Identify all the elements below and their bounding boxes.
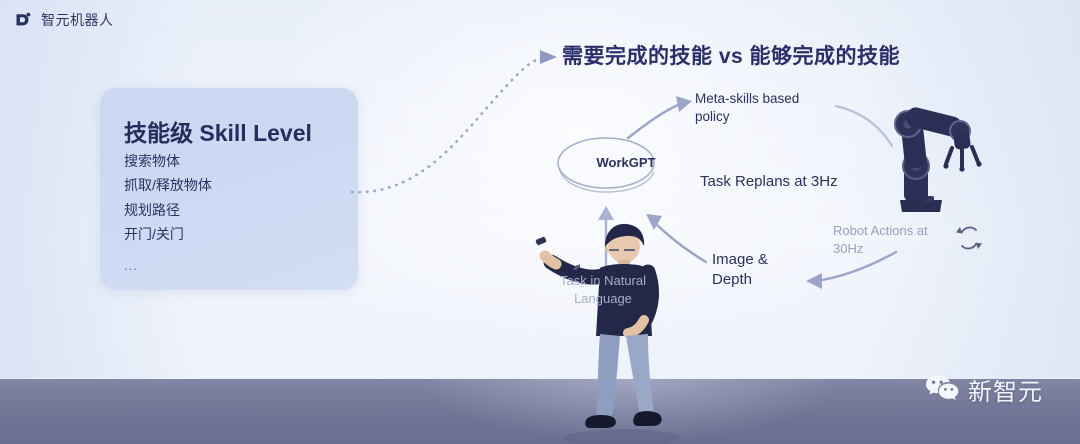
skill-card-title: 技能级 Skill Level <box>124 114 312 148</box>
channel-watermark: 新智元 <box>925 372 1043 407</box>
skill-level-card: 技能级 Skill Level 搜索物体 抓取/释放物体 规划路径 开门/关门 … <box>100 88 358 290</box>
workgpt-node-label: WorkGPT <box>578 155 674 170</box>
label-image-depth: Image & Depth <box>712 250 768 291</box>
label-task-replans: Task Replans at 3Hz <box>700 172 838 192</box>
wechat-bubbles-icon <box>925 373 959 406</box>
brand-logo: 智元机器人 <box>14 10 114 30</box>
presentation-screenshot: 智元机器人 技能级 Skill Level 搜索物体 抓取/释放物体 规划路径 … <box>0 0 1080 444</box>
zhiyuan-d-logo-icon <box>14 11 33 30</box>
label-meta-skills: Meta-skills based policy <box>695 90 799 126</box>
skill-card-ellipsis: ... <box>124 258 212 273</box>
list-item: 规划路径 <box>124 203 212 218</box>
list-item: 开门/关门 <box>124 227 212 242</box>
watermark-text: 新智元 <box>968 372 1043 407</box>
brand-name: 智元机器人 <box>41 10 114 30</box>
skill-card-list: 搜索物体 抓取/释放物体 规划路径 开门/关门 ... <box>124 154 212 273</box>
label-robot-actions: Robot Actions at 30Hz <box>833 222 928 257</box>
page-title: 需要完成的技能 vs 能够完成的技能 <box>562 40 900 70</box>
list-item: 抓取/释放物体 <box>124 178 212 193</box>
label-task-natural-language: Task in Natural Language <box>560 272 646 307</box>
stage-floor-reflection <box>420 379 840 444</box>
list-item: 搜索物体 <box>124 154 212 169</box>
